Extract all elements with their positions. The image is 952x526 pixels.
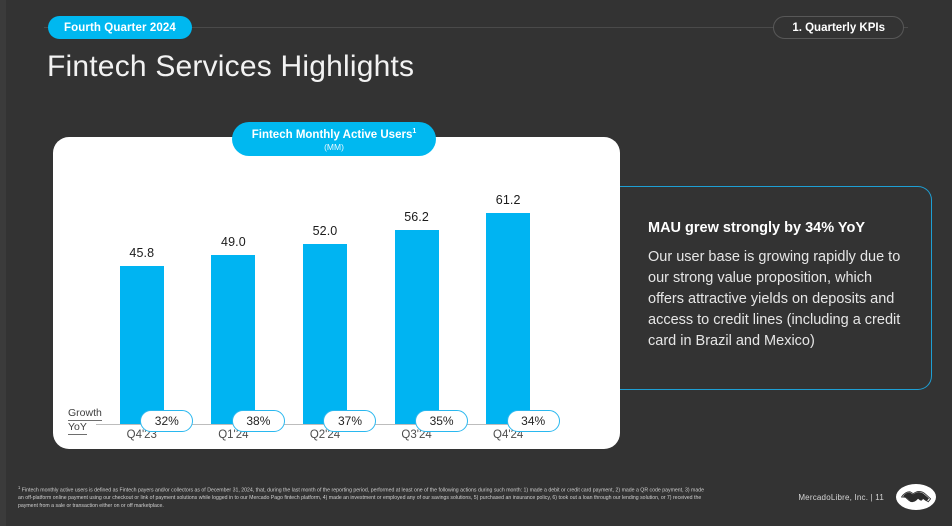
growth-yoy-pill: 37% bbox=[323, 410, 376, 432]
chart-title-footnote-marker: 1 bbox=[412, 128, 416, 135]
bar-value-label: 52.0 bbox=[313, 224, 338, 238]
growth-yoy-pill: 35% bbox=[415, 410, 468, 432]
footer-right: MercadoLibre, Inc. | 11 bbox=[798, 484, 936, 510]
bar-group: 45.849.052.056.261.2 bbox=[96, 182, 554, 425]
growth-yoy-pill: 38% bbox=[232, 410, 285, 432]
growth-yoy-pill: 34% bbox=[507, 410, 560, 432]
growth-yoy-row: Growth YoY 32%38%37%35%34% bbox=[53, 404, 620, 438]
growth-yoy-label: Growth YoY bbox=[68, 407, 121, 435]
chart-title-label: Fintech Monthly Active Users bbox=[252, 129, 413, 141]
growth-yoy-label-line1: Growth bbox=[68, 407, 102, 421]
mercadolibre-handshake-logo-icon bbox=[896, 484, 936, 510]
slide: Fourth Quarter 2024 1. Quarterly KPIs Fi… bbox=[0, 0, 952, 526]
bar bbox=[303, 244, 347, 425]
company-page-label: MercadoLibre, Inc. | 11 bbox=[798, 493, 884, 502]
quarter-badge: Fourth Quarter 2024 bbox=[48, 16, 192, 39]
bar-slot: 45.8 bbox=[96, 182, 188, 425]
bar-value-label: 49.0 bbox=[221, 235, 246, 249]
bar bbox=[486, 213, 530, 425]
left-edge-strip bbox=[0, 0, 6, 526]
bar-slot: 61.2 bbox=[462, 182, 554, 425]
chart-title-badge: Fintech Monthly Active Users1 (MM) bbox=[232, 122, 436, 156]
section-badge: 1. Quarterly KPIs bbox=[773, 16, 904, 39]
page-title: Fintech Services Highlights bbox=[47, 50, 414, 84]
bar-value-label: 56.2 bbox=[404, 210, 429, 224]
growth-pill-slot: 34% bbox=[487, 410, 579, 432]
growth-yoy-label-line2: YoY bbox=[68, 421, 87, 435]
growth-pill-slot: 38% bbox=[213, 410, 305, 432]
bar-slot: 56.2 bbox=[371, 182, 463, 425]
footnote: 1 Fintech monthly active users is define… bbox=[18, 484, 708, 511]
bar bbox=[120, 266, 164, 425]
footnote-text: Fintech monthly active users is defined … bbox=[18, 488, 704, 509]
bar bbox=[395, 230, 439, 425]
bar bbox=[211, 255, 255, 425]
growth-pill-slot: 35% bbox=[396, 410, 488, 432]
insight-heading: MAU grew strongly by 34% YoY bbox=[648, 220, 903, 236]
insight-callout: MAU grew strongly by 34% YoY Our user ba… bbox=[620, 186, 932, 390]
insight-callout-inner: MAU grew strongly by 34% YoY Our user ba… bbox=[620, 187, 931, 352]
chart-subtitle: (MM) bbox=[324, 142, 344, 153]
growth-pill-group: 32%38%37%35%34% bbox=[121, 410, 579, 432]
bar-value-label: 45.8 bbox=[129, 246, 154, 260]
chart-title-text: Fintech Monthly Active Users1 bbox=[252, 125, 417, 142]
growth-pill-slot: 37% bbox=[304, 410, 396, 432]
bar-chart-plot: 45.849.052.056.261.2 bbox=[96, 182, 596, 425]
bar-slot: 52.0 bbox=[279, 182, 371, 425]
insight-body: Our user base is growing rapidly due to … bbox=[648, 247, 903, 352]
chart-card: 45.849.052.056.261.2 Q4'23Q1'24Q2'24Q3'2… bbox=[53, 137, 620, 449]
bar-slot: 49.0 bbox=[188, 182, 280, 425]
growth-yoy-pill: 32% bbox=[140, 410, 193, 432]
bar-value-label: 61.2 bbox=[496, 193, 521, 207]
growth-pill-slot: 32% bbox=[121, 410, 213, 432]
footnote-marker: 1 bbox=[18, 485, 20, 490]
